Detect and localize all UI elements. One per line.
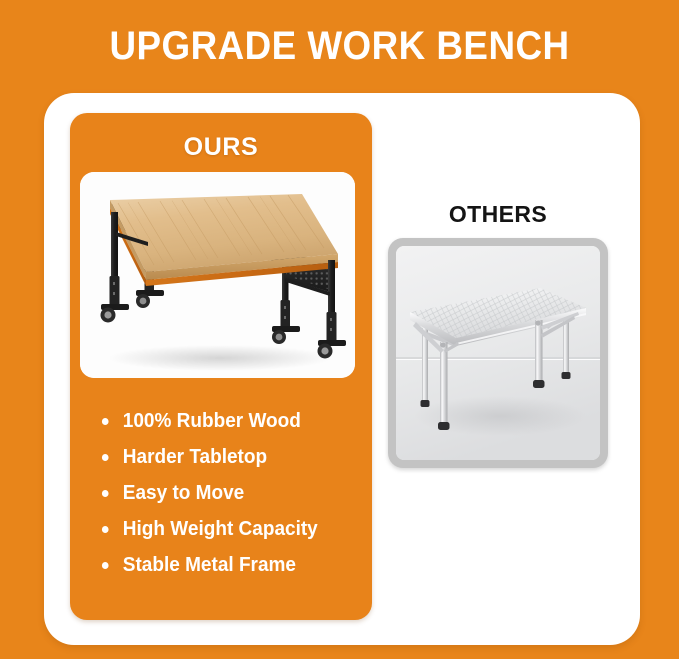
ours-benefit-list: 100% Rubber Wood Harder Tabletop Easy to… [100, 403, 372, 583]
folding-table-illustration [396, 246, 600, 460]
list-item: Stable Metal Frame [100, 547, 358, 583]
ours-product-image [80, 172, 355, 378]
others-label: OTHERS [388, 201, 608, 228]
page-title: UPGRADE WORK BENCH [27, 22, 652, 70]
ours-label: OURS [70, 133, 372, 162]
list-item: Easy to Move [100, 475, 358, 511]
list-item: High Weight Capacity [100, 511, 358, 547]
others-product-image [396, 246, 600, 460]
ours-panel: OURS [70, 113, 372, 620]
list-item: Harder Tabletop [100, 439, 358, 475]
list-item: 100% Rubber Wood [100, 403, 358, 439]
others-panel [388, 238, 608, 468]
comparison-card: OURS [44, 93, 640, 645]
workbench-illustration [80, 172, 355, 378]
